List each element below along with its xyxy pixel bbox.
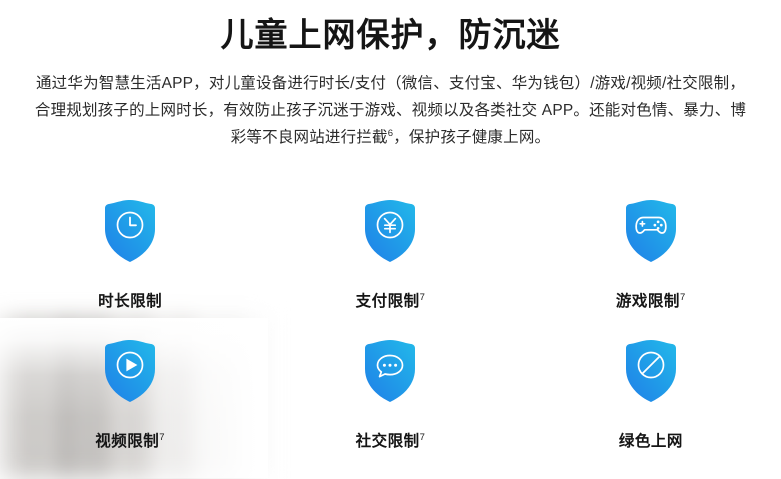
shield-yuan-icon — [362, 199, 418, 263]
feature-grid: 时长限制 支付限制7 — [0, 199, 781, 479]
shield-clock-icon — [102, 199, 158, 263]
feature-label-text: 游戏限制 — [616, 293, 680, 310]
feature-item-time-limit[interactable]: 时长限制 — [0, 199, 260, 339]
feature-label-text: 支付限制 — [356, 293, 420, 310]
feature-label-game-limit: 游戏限制7 — [616, 289, 686, 311]
description-text-tail: ，保护孩子健康上网。 — [393, 129, 550, 146]
feature-label-text: 时长限制 — [98, 293, 162, 310]
shield-play-icon — [102, 339, 158, 403]
feature-item-video-limit[interactable]: 视频限制7 — [0, 339, 260, 479]
shield-block-icon — [623, 339, 679, 403]
feature-footnote: 7 — [680, 292, 686, 303]
feature-item-game-limit[interactable]: 游戏限制7 — [521, 199, 781, 339]
feature-footnote: 7 — [420, 292, 426, 303]
feature-label-green-internet: 绿色上网 — [619, 429, 683, 451]
feature-item-green-internet[interactable]: 绿色上网 — [521, 339, 781, 479]
feature-item-payment-limit[interactable]: 支付限制7 — [260, 199, 520, 339]
shield-chat-icon — [362, 339, 418, 403]
page-description: 通过华为智慧生活APP，对儿童设备进行时长/支付（微信、支付宝、华为钱包）/游戏… — [35, 70, 747, 151]
page-content: 儿童上网保护，防沉迷 通过华为智慧生活APP，对儿童设备进行时长/支付（微信、支… — [0, 0, 781, 479]
page-title: 儿童上网保护，防沉迷 — [0, 0, 781, 57]
feature-label-social-limit: 社交限制7 — [356, 429, 426, 451]
shield-gamepad-icon — [623, 199, 679, 263]
feature-label-text: 视频限制 — [95, 433, 159, 450]
feature-label-video-limit: 视频限制7 — [95, 429, 165, 451]
feature-label-payment-limit: 支付限制7 — [356, 289, 426, 311]
feature-footnote: 7 — [159, 432, 165, 443]
feature-footnote: 7 — [420, 432, 426, 443]
feature-label-time-limit: 时长限制 — [98, 289, 162, 311]
feature-label-text: 社交限制 — [356, 433, 420, 450]
feature-label-text: 绿色上网 — [619, 433, 683, 450]
feature-item-social-limit[interactable]: 社交限制7 — [260, 339, 520, 479]
